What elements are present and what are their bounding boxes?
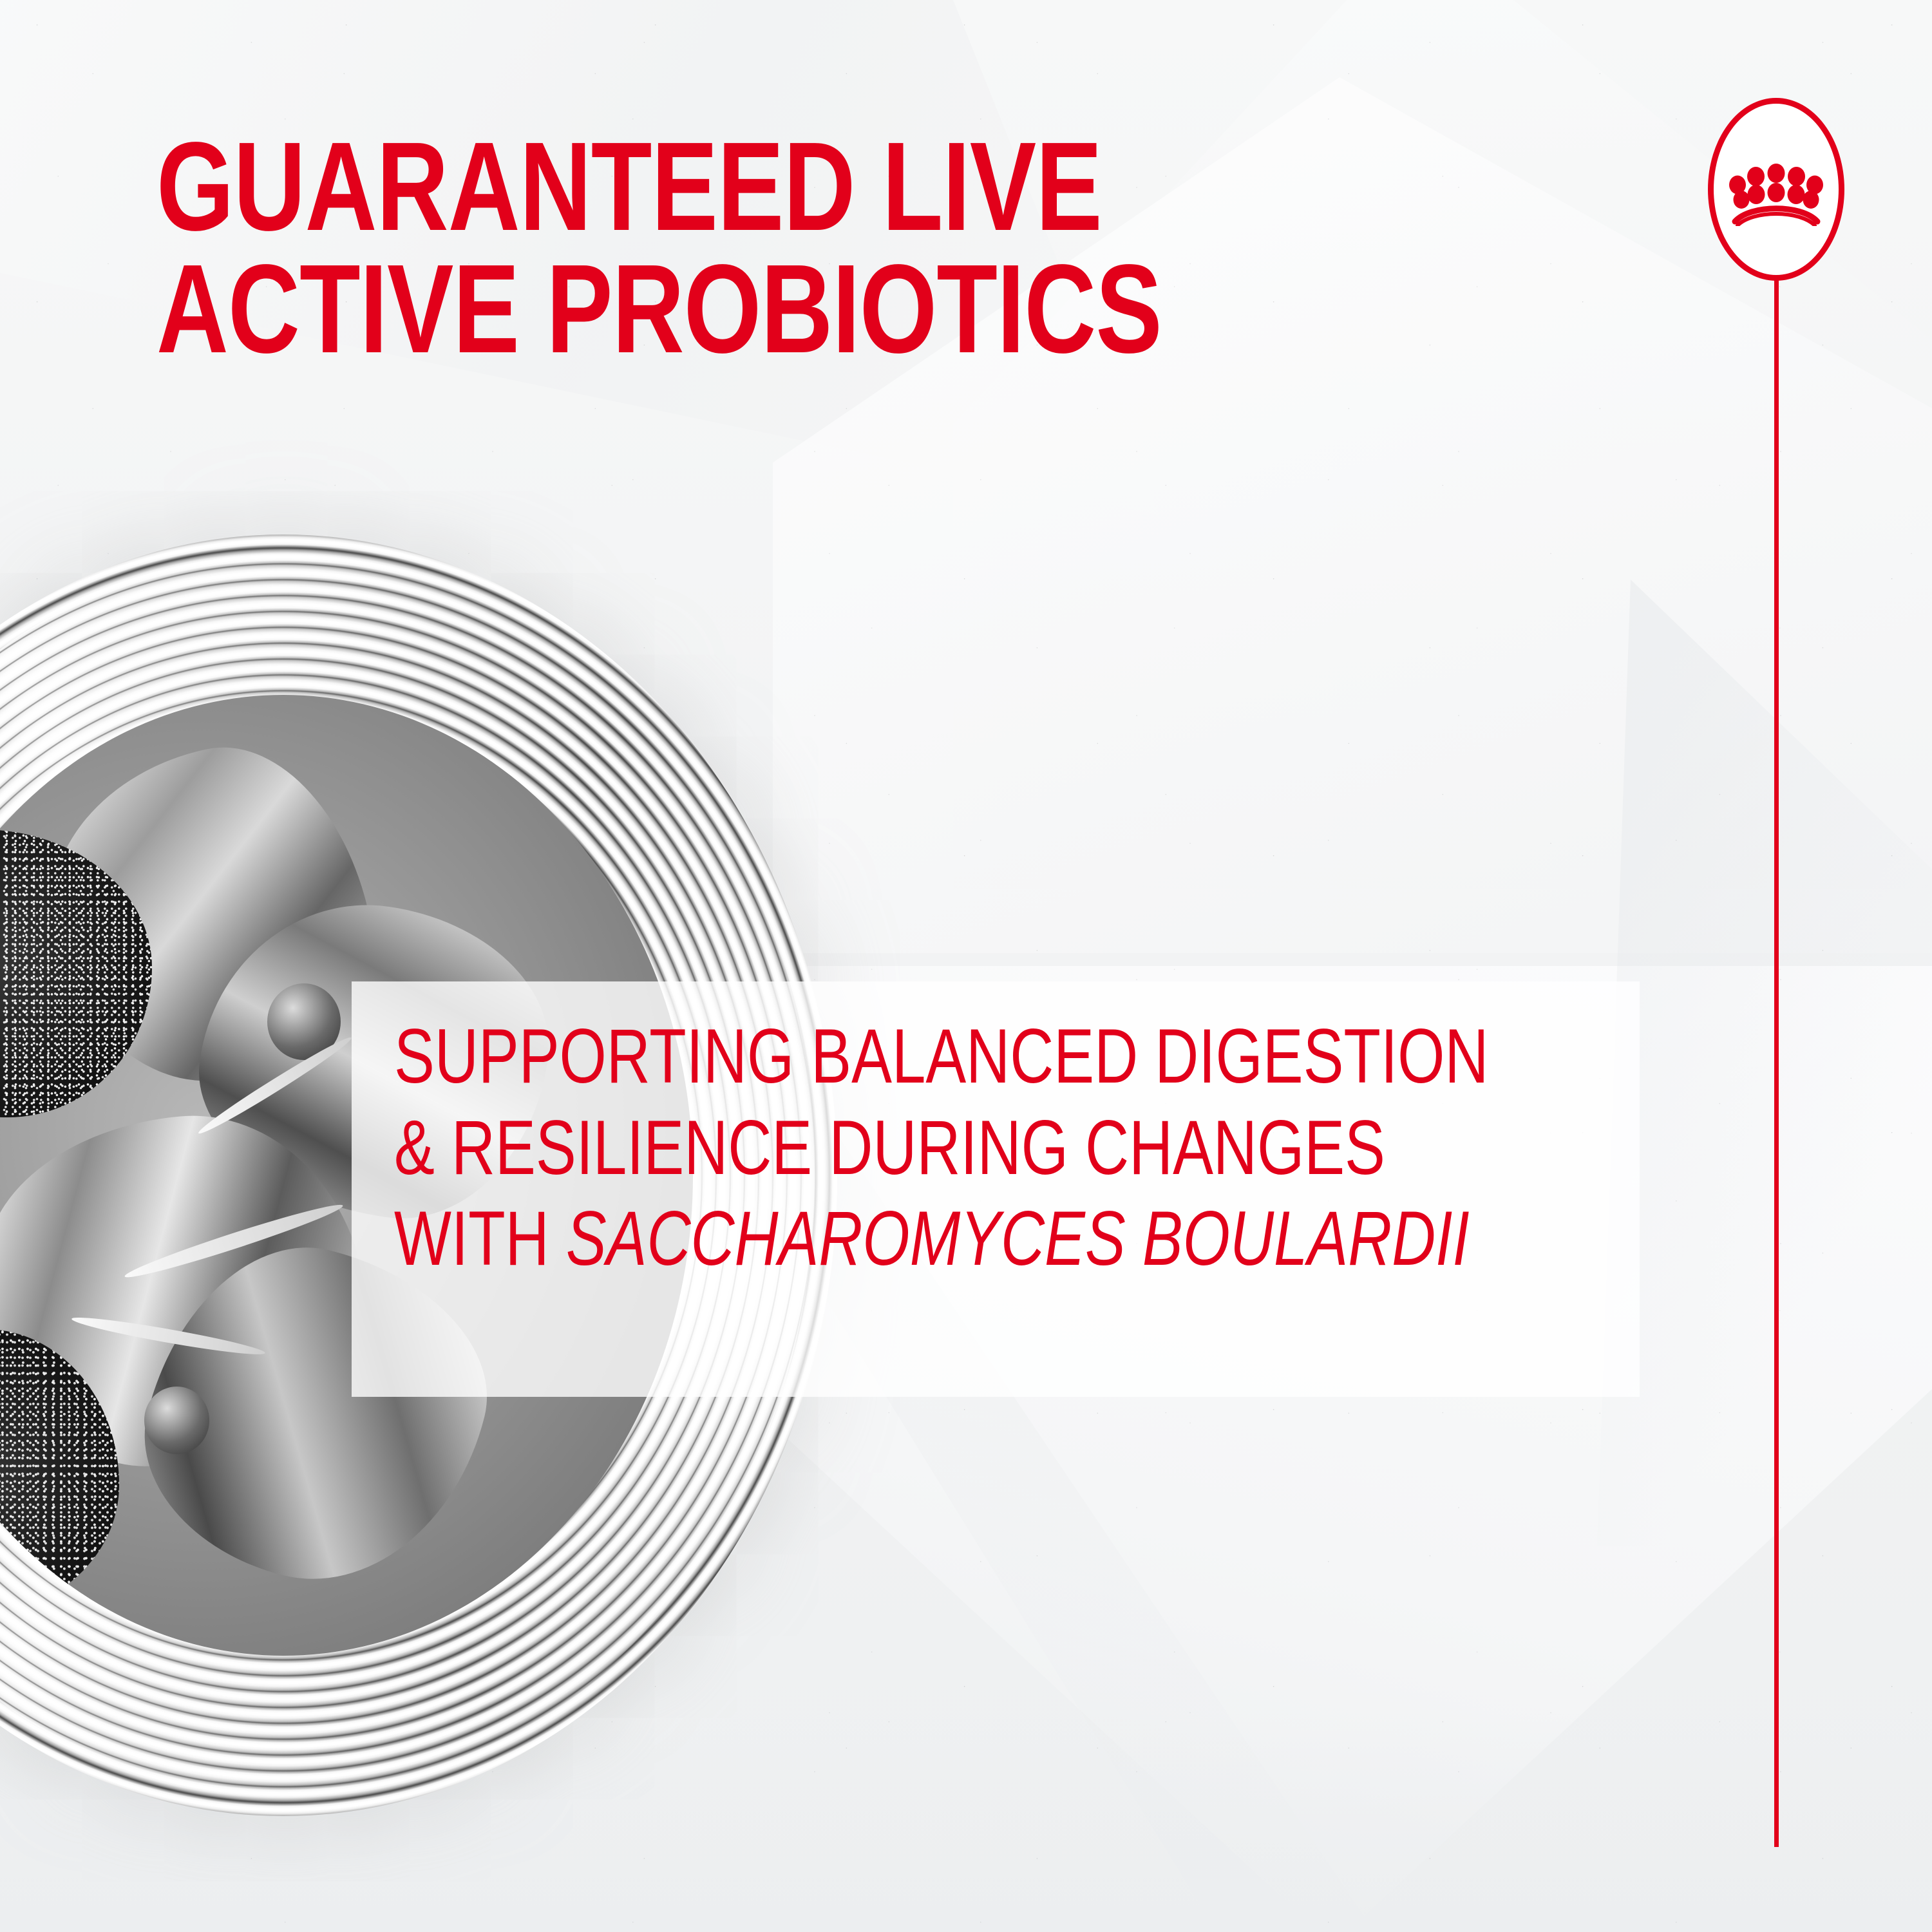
body-copy-line-3: WITH SACCHAROMYCES BOULARDII [394, 1193, 1607, 1285]
body-copy-line-2: & RESILIENCE DURING CHANGES [394, 1103, 1607, 1194]
body-copy: SUPPORTING BALANCED DIGESTION & RESILIEN… [394, 1011, 1607, 1285]
body-copy-line-1: SUPPORTING BALANCED DIGESTION [394, 1011, 1607, 1103]
body-copy-line-3-species: SACCHAROMYCES BOULARDII [566, 1195, 1470, 1282]
headline: GUARANTEED LIVE ACTIVE PROBIOTICS [156, 126, 1276, 370]
royal-canin-crown-icon [1727, 159, 1825, 226]
logo-stem-line [1774, 270, 1779, 1847]
brand-logo-badge [1708, 98, 1844, 281]
promo-banner: GUARANTEED LIVE ACTIVE PROBIOTICS SUPPOR… [0, 0, 1932, 1932]
body-copy-line-3-prefix: WITH [394, 1195, 566, 1282]
